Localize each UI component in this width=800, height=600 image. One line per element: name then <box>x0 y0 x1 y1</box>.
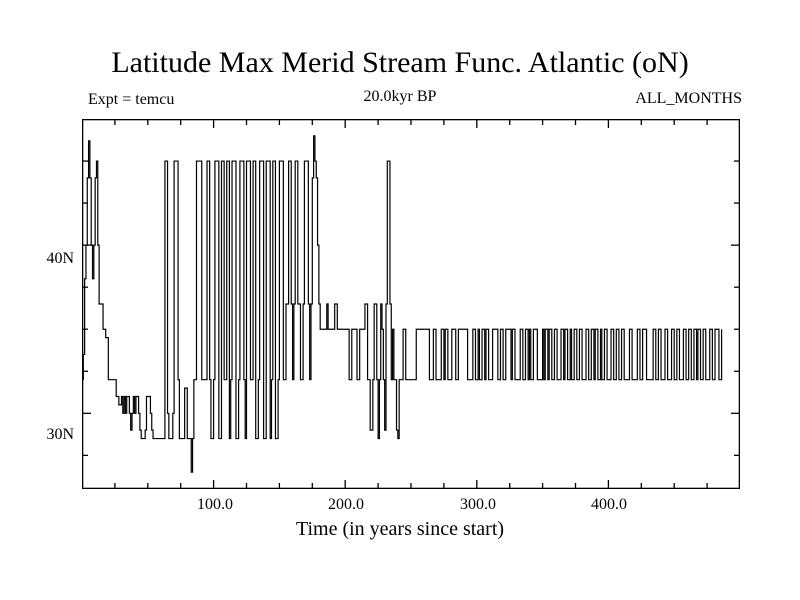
x-tick-label-100: 100.0 <box>170 496 260 514</box>
plot-svg <box>82 119 740 489</box>
x-tick-label-400: 400.0 <box>564 496 654 514</box>
months-label: ALL_MONTHS <box>635 90 742 108</box>
x-tick-label-300: 300.0 <box>433 496 523 514</box>
plot-frame <box>83 120 740 489</box>
plot-area <box>82 119 740 489</box>
page-title: Latitude Max Merid Stream Func. Atlantic… <box>0 46 800 80</box>
x-axis-title: Time (in years since start) <box>0 518 800 541</box>
y-tick-label-30n: 30N <box>14 426 74 444</box>
chart-page: Latitude Max Merid Stream Func. Atlantic… <box>0 0 800 600</box>
y-tick-label-40n: 40N <box>14 250 74 268</box>
x-tick-label-200: 200.0 <box>301 496 391 514</box>
